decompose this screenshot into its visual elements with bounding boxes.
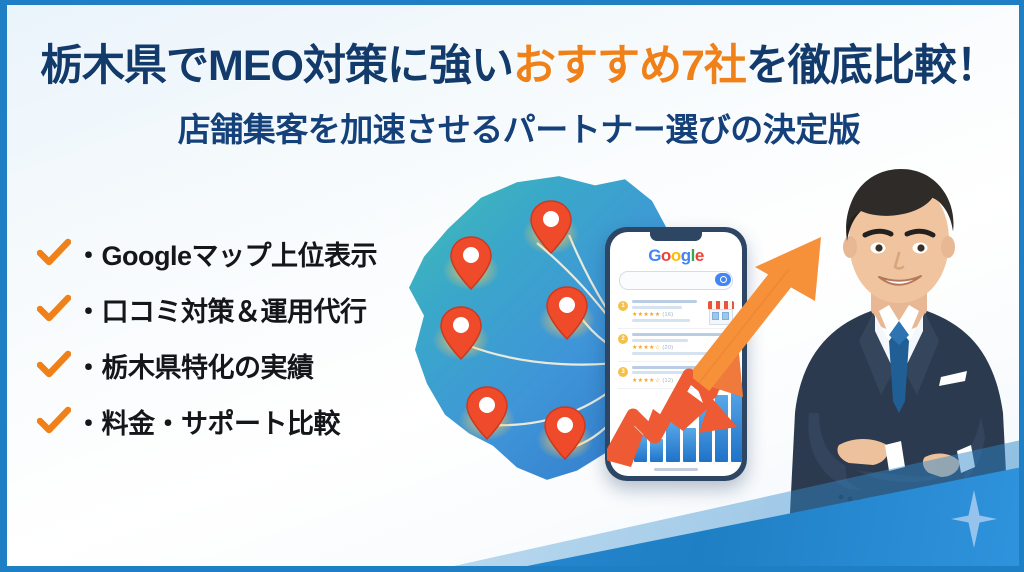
check-icon: [37, 294, 71, 324]
google-logo-letter: g: [681, 246, 691, 265]
bullet-label: ・栃木県特化の実績: [75, 346, 314, 385]
map-pin[interactable]: [529, 199, 573, 255]
check-icon: [37, 238, 71, 268]
map-pin[interactable]: [543, 405, 587, 461]
list-item: ・Googleマップ上位表示: [37, 227, 377, 279]
bullet-label: ・口コミ対策＆運用代行: [75, 290, 367, 329]
bullet-label: ・Googleマップ上位表示: [75, 234, 377, 273]
map-pin[interactable]: [449, 235, 493, 291]
bullet-label: ・料金・サポート比較: [75, 402, 340, 441]
businessman-illustration: [775, 145, 1023, 572]
text-placeholder-bar: [632, 319, 690, 322]
headline: 栃木県でMEO対策に強いおすすめ7社を徹底比較！: [7, 31, 1024, 93]
feature-bullet-list: ・Googleマップ上位表示 ・口コミ対策＆運用代行 ・栃木県特化の実績 ・料金…: [37, 227, 377, 451]
map-pin[interactable]: [465, 385, 509, 441]
headline-highlight-text: おすすめ7社: [513, 42, 746, 90]
google-logo-letter: G: [648, 246, 661, 265]
subheadline: 店舗集客を加速させるパートナー選びの決定版: [7, 103, 1024, 151]
google-logo-letter: o: [661, 246, 671, 265]
map-pin[interactable]: [439, 305, 483, 361]
headline-part1: 栃木県でMEO対策に強い: [40, 42, 513, 90]
list-item: ・料金・サポート比較: [37, 395, 377, 447]
text-placeholder-bar: [632, 300, 697, 303]
text-placeholder-bar: [632, 306, 682, 309]
headline-highlight: おすすめ7社: [513, 31, 746, 93]
list-item: ・栃木県特化の実績: [37, 339, 377, 391]
list-item: ・口コミ対策＆運用代行: [37, 283, 377, 335]
check-icon: [37, 350, 71, 380]
map-pin[interactable]: [545, 285, 589, 341]
result-rank-badge: 1: [618, 301, 628, 311]
review-count: (16): [662, 312, 673, 318]
meo-hero-banner: 栃木県でMEO対策に強いおすすめ7社を徹底比較！ 店舗集客を加速させるパートナー…: [0, 0, 1024, 572]
google-logo-letter: o: [671, 246, 681, 265]
headline-part2: を徹底比較！: [746, 42, 998, 90]
check-icon: [37, 406, 71, 436]
stars-glyphs: ★★★★★: [632, 312, 660, 318]
